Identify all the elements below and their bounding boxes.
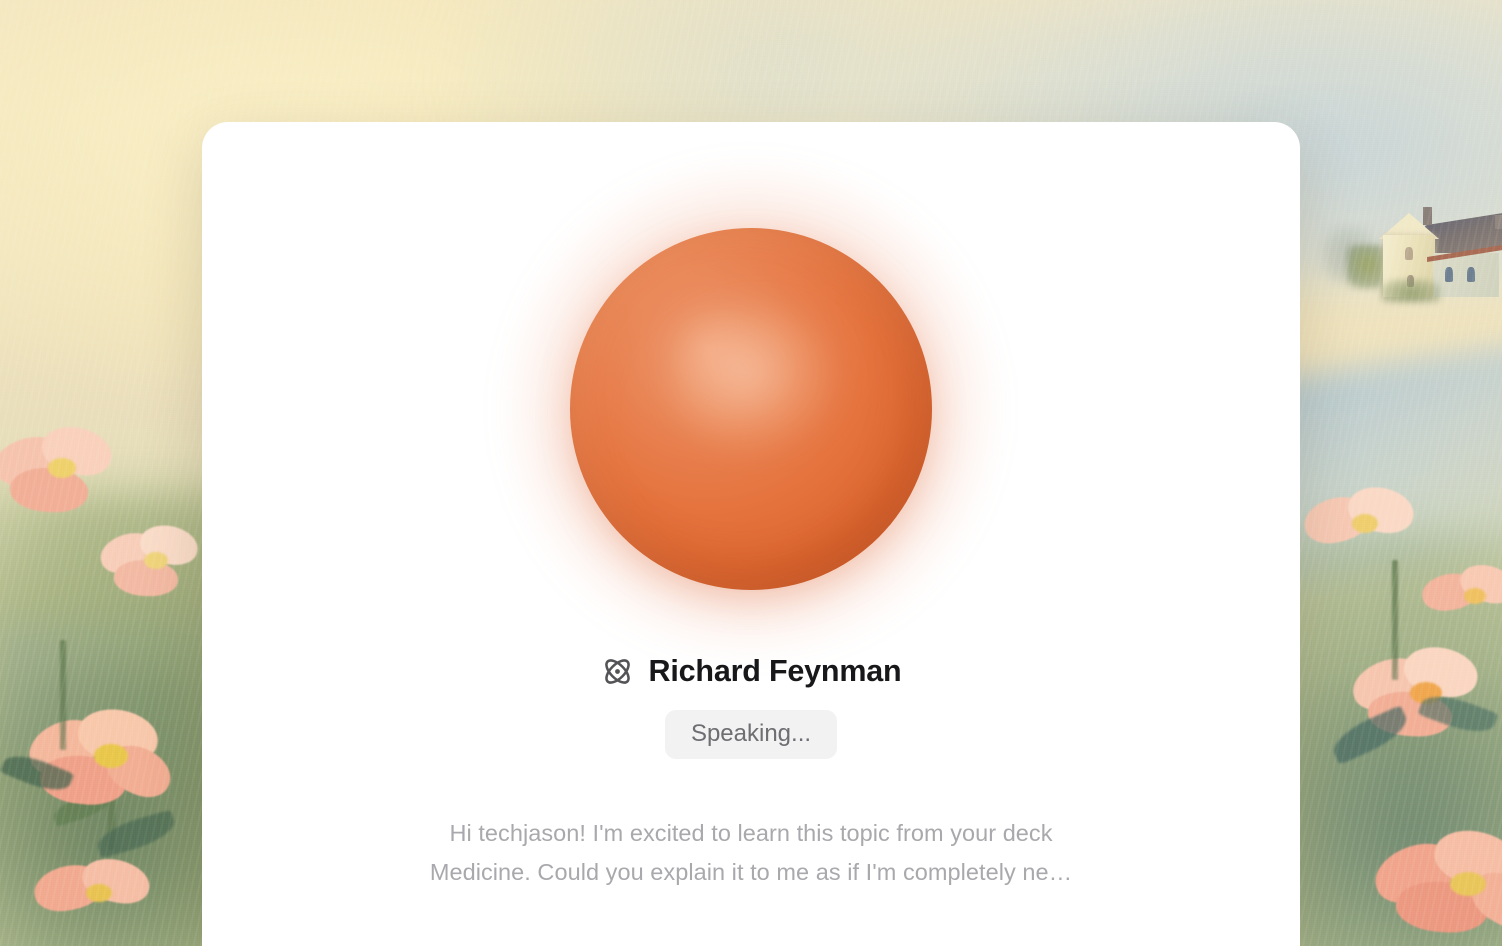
status-row: Speaking...	[202, 710, 1300, 759]
atom-icon	[601, 655, 634, 688]
persona-header: Richard Feynman	[202, 655, 1300, 688]
app-window: Richard Feynman Speaking... Hi techjason…	[0, 0, 1502, 946]
transcript-text: Hi techjason! I'm excited to learn this …	[401, 814, 1101, 892]
voice-session-card: Richard Feynman Speaking... Hi techjason…	[202, 122, 1300, 946]
orb-sphere	[570, 228, 932, 590]
orb-highlight	[671, 308, 838, 453]
status-badge: Speaking...	[665, 710, 837, 759]
voice-activity-orb[interactable]	[570, 228, 932, 590]
persona-name: Richard Feynman	[649, 656, 902, 687]
